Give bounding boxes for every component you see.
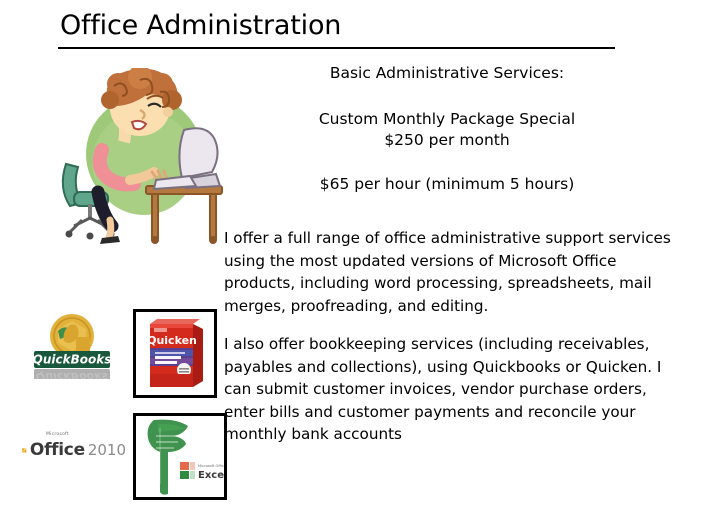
services-heading: Basic Administrative Services:	[222, 62, 672, 84]
woman-typing-at-computer-clipart	[52, 68, 232, 253]
hourly-price: $65 per hour (minimum 5 hours)	[222, 173, 672, 195]
office-year: 2010	[88, 441, 126, 459]
title-divider	[58, 47, 615, 49]
quickbooks-wordmark: QuickBooks	[33, 353, 112, 367]
quickbooks-logo: QuickBooks QuickBooks	[30, 311, 114, 379]
svg-text:QuickBooks: QuickBooks	[36, 370, 109, 379]
office-microsoft-tag: Microsoft	[46, 432, 69, 437]
services-paragraph: I offer a full range of office administr…	[224, 227, 676, 317]
excel-image: Microsoft Office Excel	[133, 413, 227, 500]
excel-wordmark: Excel	[198, 470, 224, 481]
excel-brand-line: Microsoft Office	[198, 464, 224, 468]
office-squares-icon	[22, 442, 27, 459]
quicken-box-image: Quicken	[133, 309, 217, 398]
page-title: Office Administration	[60, 10, 341, 41]
monthly-price: $250 per month	[222, 129, 672, 151]
office-wordmark: Office	[30, 440, 85, 460]
package-special-line: Custom Monthly Package Special	[222, 108, 672, 130]
office-2010-logo: Office Microsoft 2010	[22, 437, 126, 463]
bookkeeping-paragraph: I also offer bookkeeping services (inclu…	[224, 333, 676, 446]
quicken-wordmark: Quicken	[147, 334, 197, 347]
